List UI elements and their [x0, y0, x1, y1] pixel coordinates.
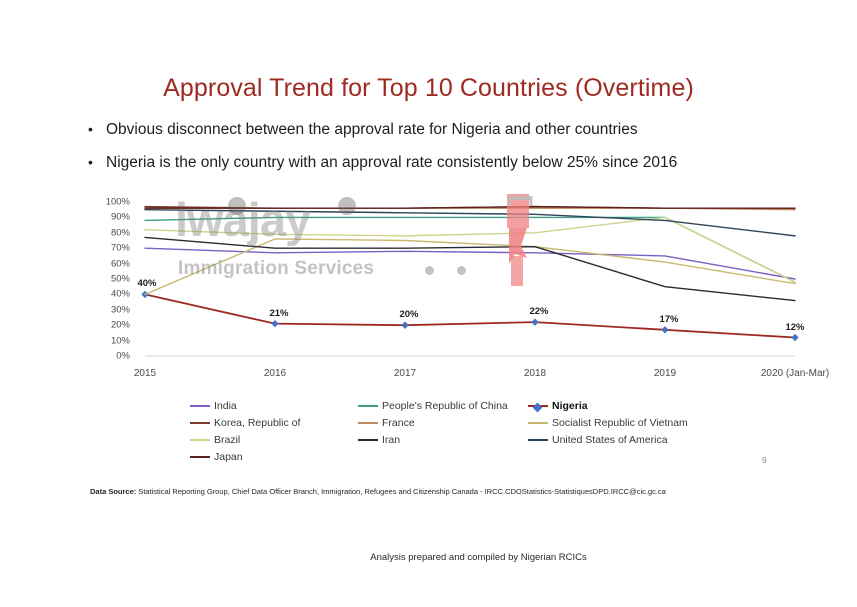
legend-swatch-icon — [190, 405, 210, 407]
legend-item-united-states-of-america[interactable]: United States of America — [528, 434, 710, 446]
chart-data-label: 21% — [269, 308, 288, 319]
chart-series-line — [145, 217, 795, 282]
legend-item-japan[interactable]: Japan — [190, 451, 358, 463]
x-axis-tick-label: 2016 — [264, 368, 286, 379]
legend-item-label: France — [382, 417, 415, 429]
chart-series-line — [145, 237, 795, 300]
legend-item-label: People's Republic of China — [382, 400, 508, 412]
chart-data-point-marker — [791, 334, 798, 341]
legend-item-label: Korea, Republic of — [214, 417, 300, 429]
legend-item-label: India — [214, 400, 237, 412]
y-axis-tick-label: 20% — [111, 320, 130, 331]
chart-data-point-marker — [401, 322, 408, 329]
y-axis-labels: 100%90%80%70%60%50%40%30%20%10%0% — [80, 196, 130, 362]
chart-plot-area — [80, 196, 800, 366]
legend-swatch-icon — [358, 405, 378, 407]
legend-item-label: Nigeria — [552, 400, 588, 412]
chart-data-label: 12% — [785, 322, 804, 333]
list-item: • Nigeria is the only country with an ap… — [88, 153, 808, 174]
x-axis-tick-label: 2015 — [134, 368, 156, 379]
legend-item-iran[interactable]: Iran — [358, 434, 528, 446]
bullet-text: Nigeria is the only country with an appr… — [106, 153, 808, 174]
chart-data-label: 40% — [137, 278, 156, 289]
data-source-label: Data Source: — [90, 487, 136, 496]
legend-item-label: Socialist Republic of Vietnam — [552, 417, 688, 429]
legend-item-people-s-republic-of-china[interactable]: People's Republic of China — [358, 400, 528, 412]
legend-item-brazil[interactable]: Brazil — [190, 434, 358, 446]
y-axis-tick-label: 100% — [106, 197, 130, 208]
bullet-list: • Obvious disconnect between the approva… — [88, 120, 808, 186]
legend-swatch-icon — [190, 456, 210, 458]
y-axis-tick-label: 30% — [111, 304, 130, 315]
legend-swatch-icon — [190, 439, 210, 441]
page-title: Approval Trend for Top 10 Countries (Ove… — [0, 74, 857, 103]
list-item: • Obvious disconnect between the approva… — [88, 120, 808, 141]
y-axis-tick-label: 60% — [111, 258, 130, 269]
legend-item-socialist-republic-of-vietnam[interactable]: Socialist Republic of Vietnam — [528, 417, 710, 429]
bullet-marker-icon: • — [88, 120, 106, 139]
legend-swatch-icon — [528, 439, 548, 441]
legend-item-nigeria[interactable]: Nigeria — [528, 400, 710, 412]
chart-series-line — [145, 217, 795, 282]
y-axis-tick-label: 40% — [111, 289, 130, 300]
legend-item-label: Japan — [214, 451, 243, 463]
chart-series-line — [145, 210, 795, 236]
slide-canvas: Approval Trend for Top 10 Countries (Ove… — [0, 0, 857, 607]
legend-swatch-icon — [358, 439, 378, 441]
x-axis-tick-label: 2019 — [654, 368, 676, 379]
legend-swatch-icon — [528, 405, 548, 407]
data-source-text: Statistical Reporting Group, Chief Data … — [136, 487, 666, 496]
y-axis-tick-label: 10% — [111, 335, 130, 346]
bullet-marker-icon: • — [88, 153, 106, 172]
chart-data-point-marker — [531, 318, 538, 325]
legend-item-india[interactable]: India — [190, 400, 358, 412]
chart-data-label: 22% — [529, 306, 548, 317]
chart-data-label: 17% — [659, 314, 678, 325]
chart-series-line — [145, 294, 795, 337]
legend-item-label: Iran — [382, 434, 400, 446]
bullet-text: Obvious disconnect between the approval … — [106, 120, 808, 141]
data-source-note: Data Source: Statistical Reporting Group… — [90, 487, 666, 496]
chart-data-point-marker — [271, 320, 278, 327]
x-axis-tick-label: 2018 — [524, 368, 546, 379]
x-axis-tick-label: 2020 (Jan-Mar) — [761, 368, 829, 379]
x-axis-labels: 201520162017201820192020 (Jan-Mar) — [80, 364, 800, 384]
legend-marker-icon — [533, 402, 543, 412]
y-axis-tick-label: 90% — [111, 212, 130, 223]
legend-item-label: Brazil — [214, 434, 240, 446]
legend-item-korea-republic-of[interactable]: Korea, Republic of — [190, 417, 358, 429]
legend-swatch-icon — [190, 422, 210, 424]
legend-swatch-icon — [358, 422, 378, 424]
x-axis-tick-label: 2017 — [394, 368, 416, 379]
legend-item-france[interactable]: France — [358, 417, 528, 429]
chart-data-point-marker — [661, 326, 668, 333]
line-chart: 100%90%80%70%60%50%40%30%20%10%0% 201520… — [80, 196, 800, 386]
legend-item-label: United States of America — [552, 434, 668, 446]
y-axis-tick-label: 80% — [111, 227, 130, 238]
y-axis-tick-label: 50% — [111, 274, 130, 285]
y-axis-tick-label: 0% — [116, 351, 130, 362]
analysis-note: Analysis prepared and compiled by Nigeri… — [0, 552, 857, 563]
y-axis-tick-label: 70% — [111, 243, 130, 254]
legend-swatch-icon — [528, 422, 548, 424]
chart-data-label: 20% — [399, 309, 418, 320]
slide-number: 9 — [762, 455, 767, 465]
chart-legend: IndiaPeople's Republic of ChinaNigeriaKo… — [190, 400, 710, 463]
